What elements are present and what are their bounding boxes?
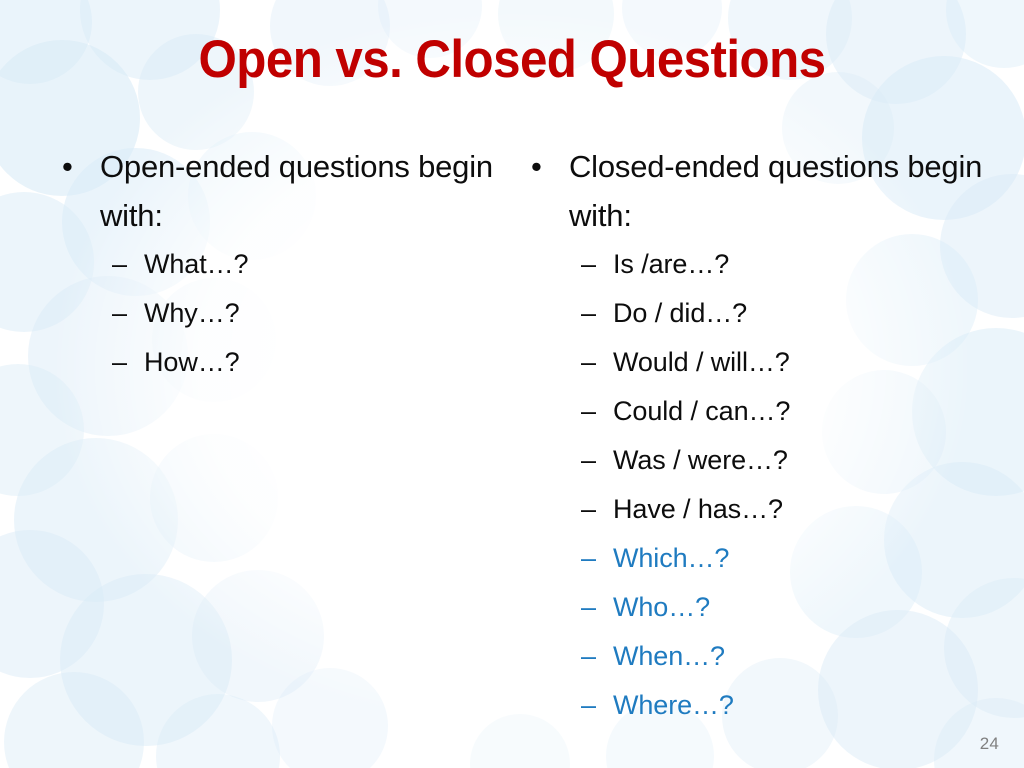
dash-icon: –: [581, 632, 596, 681]
slide-body: • Open-ended questions begin with: –What…: [0, 142, 1024, 742]
list-item-label: Could / can…?: [613, 396, 790, 426]
open-ended-lead: • Open-ended questions begin with:: [58, 142, 510, 240]
list-item-label: What…?: [144, 249, 248, 279]
column-closed-ended: • Closed-ended questions begin with: –Is…: [527, 142, 997, 730]
dash-icon: –: [112, 338, 127, 387]
closed-ended-lead: • Closed-ended questions begin with:: [527, 142, 997, 240]
dash-icon: –: [581, 583, 596, 632]
dash-icon: –: [112, 240, 127, 289]
list-item-label: When…?: [613, 641, 725, 671]
list-item: –Why…?: [58, 289, 510, 338]
list-item: –Could / can…?: [527, 387, 997, 436]
dash-icon: –: [581, 436, 596, 485]
dash-icon: –: [581, 387, 596, 436]
bullet-icon: •: [62, 142, 73, 191]
dash-icon: –: [581, 485, 596, 534]
list-item: –Which…?: [527, 534, 997, 583]
list-item-label: Which…?: [613, 543, 729, 573]
dash-icon: –: [581, 240, 596, 289]
list-item: –Have / has…?: [527, 485, 997, 534]
list-item: –Where…?: [527, 681, 997, 730]
closed-ended-list: –Is /are…?–Do / did…?–Would / will…?–Cou…: [527, 240, 997, 730]
list-item: –What…?: [58, 240, 510, 289]
list-item: –How…?: [58, 338, 510, 387]
slide-title: Open vs. Closed Questions: [36, 32, 988, 88]
open-ended-lead-text: Open-ended questions begin with:: [100, 142, 510, 240]
list-item-label: Is /are…?: [613, 249, 729, 279]
list-item: –When…?: [527, 632, 997, 681]
list-item-label: Would / will…?: [613, 347, 790, 377]
list-item: –Was / were…?: [527, 436, 997, 485]
list-item: –Do / did…?: [527, 289, 997, 338]
list-item-label: Who…?: [613, 592, 710, 622]
list-item-label: Where…?: [613, 690, 734, 720]
closed-ended-lead-text: Closed-ended questions begin with:: [569, 142, 997, 240]
list-item: –Is /are…?: [527, 240, 997, 289]
list-item-label: Have / has…?: [613, 494, 783, 524]
bullet-icon: •: [531, 142, 542, 191]
list-item-label: Do / did…?: [613, 298, 747, 328]
open-ended-list: –What…?–Why…?–How…?: [58, 240, 510, 387]
list-item: –Who…?: [527, 583, 997, 632]
slide: Open vs. Closed Questions • Open-ended q…: [0, 0, 1024, 768]
list-item-label: Was / were…?: [613, 445, 788, 475]
dash-icon: –: [581, 681, 596, 730]
dash-icon: –: [581, 289, 596, 338]
list-item: –Would / will…?: [527, 338, 997, 387]
dash-icon: –: [112, 289, 127, 338]
page-number: 24: [980, 734, 999, 754]
dash-icon: –: [581, 338, 596, 387]
dash-icon: –: [581, 534, 596, 583]
list-item-label: How…?: [144, 347, 240, 377]
column-open-ended: • Open-ended questions begin with: –What…: [58, 142, 510, 387]
list-item-label: Why…?: [144, 298, 240, 328]
